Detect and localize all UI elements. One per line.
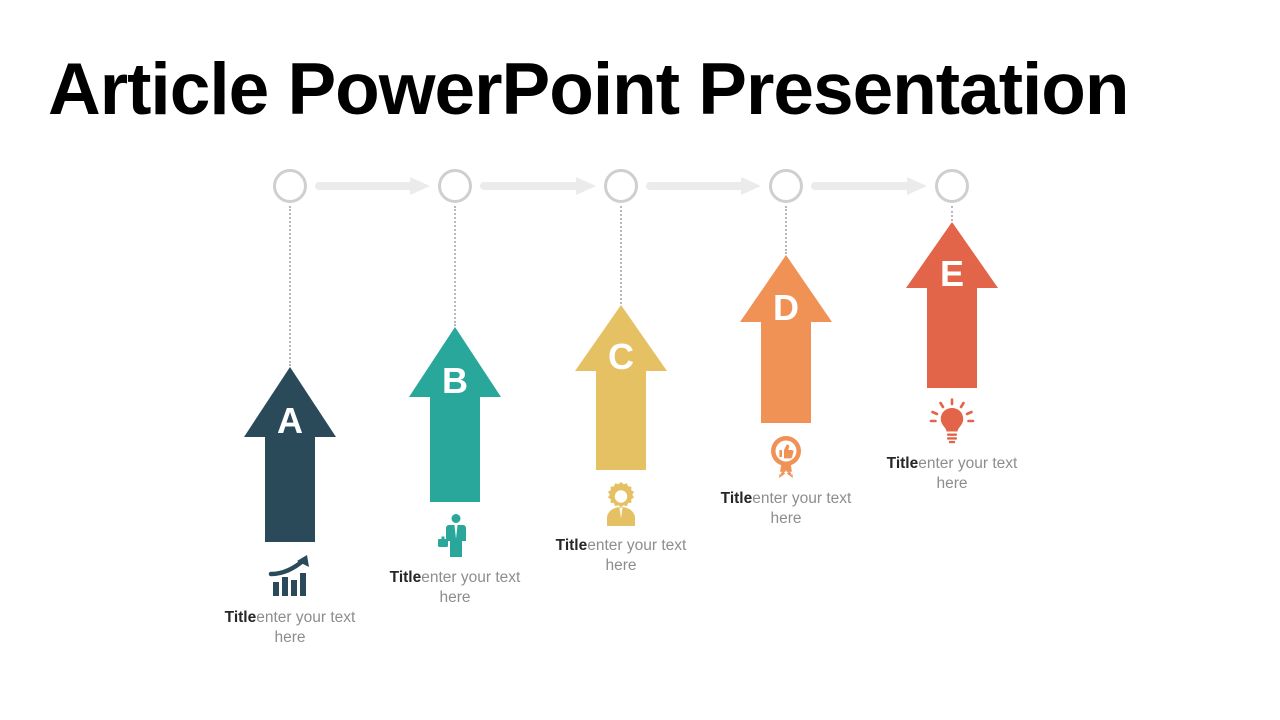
step-caption-d: Titleenter your text here: [676, 489, 896, 529]
gear-head-person-icon: [597, 480, 645, 528]
page-title: Article PowerPoint Presentation: [48, 46, 1238, 134]
arrow-shape-a[interactable]: A: [244, 367, 336, 542]
timeline-node-a[interactable]: [273, 169, 307, 203]
caption-title: Title: [887, 455, 919, 472]
lightbulb-idea-icon: [928, 398, 976, 446]
caption-body: enter your text here: [256, 609, 355, 646]
timeline-node-e[interactable]: [935, 169, 969, 203]
arrow-shape-e[interactable]: E: [906, 222, 998, 388]
arrow-letter-c: C: [575, 339, 667, 375]
step-caption-e: Titleenter your text here: [842, 454, 1062, 494]
caption-body: enter your text here: [587, 537, 686, 574]
timeline-connector-arrow-1: [315, 177, 430, 195]
arrow-shaft: [596, 371, 646, 470]
timeline-node-d[interactable]: [769, 169, 803, 203]
dropline-a: [289, 206, 291, 366]
timeline-connector-arrow-2: [480, 177, 596, 195]
bar-chart-growth-icon: [266, 552, 314, 600]
caption-title: Title: [556, 537, 588, 554]
caption-body: enter your text here: [421, 569, 520, 606]
arrow-head: B: [409, 327, 501, 397]
timeline-node-c[interactable]: [604, 169, 638, 203]
arrow-head: A: [244, 367, 336, 437]
arrow-letter-a: A: [244, 403, 336, 439]
slide-canvas: Article PowerPoint Presentation ATitleen…: [0, 0, 1280, 720]
svg-text:★★★★★: ★★★★★: [770, 469, 801, 477]
dropline-e: [951, 206, 953, 221]
arrow-shape-d[interactable]: D: [740, 255, 832, 423]
caption-title: Title: [225, 609, 257, 626]
award-ribbon-thumbsup-icon: ★★★★★: [762, 433, 810, 481]
caption-body: enter your text here: [752, 490, 851, 527]
arrow-head: E: [906, 222, 998, 288]
arrow-shaft: [927, 288, 977, 388]
arrow-head: C: [575, 305, 667, 371]
timeline-connector-arrow-3: [646, 177, 761, 195]
dropline-d: [785, 206, 787, 254]
arrow-head: D: [740, 255, 832, 322]
caption-body: enter your text here: [918, 455, 1017, 492]
arrow-letter-d: D: [740, 290, 832, 326]
arrow-shaft: [761, 322, 811, 423]
dropline-c: [620, 206, 622, 304]
arrow-shaft: [265, 437, 315, 542]
arrow-shape-c[interactable]: C: [575, 305, 667, 470]
timeline-node-b[interactable]: [438, 169, 472, 203]
caption-title: Title: [721, 490, 753, 507]
arrow-shape-b[interactable]: B: [409, 327, 501, 502]
arrow-shaft: [430, 397, 480, 502]
dropline-b: [454, 206, 456, 326]
step-caption-a: Titleenter your text here: [180, 608, 400, 648]
arrow-letter-e: E: [906, 256, 998, 292]
timeline-connector-arrow-4: [811, 177, 927, 195]
step-e[interactable]: ETitleenter your text here: [842, 222, 1062, 494]
businessman-briefcase-icon: [431, 512, 479, 560]
step-caption-c: Titleenter your text here: [511, 536, 731, 576]
caption-title: Title: [390, 569, 422, 586]
arrow-letter-b: B: [409, 363, 501, 399]
